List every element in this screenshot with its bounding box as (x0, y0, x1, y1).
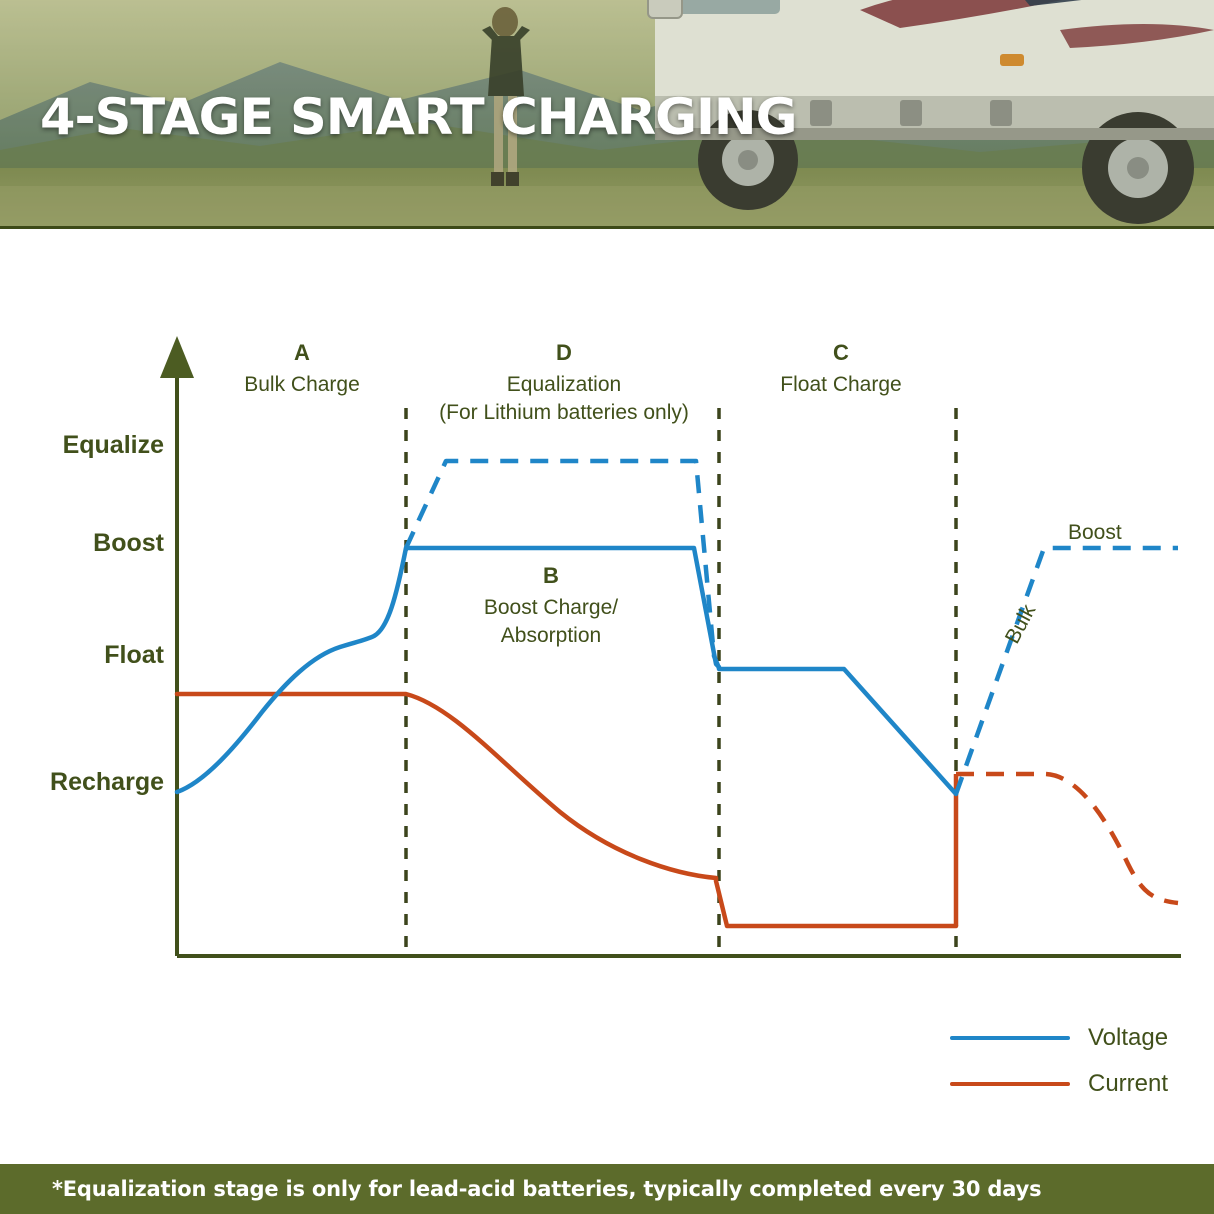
y-tick-label-equalize: Equalize (24, 431, 164, 460)
legend-item-voltage: Voltage (950, 1024, 1168, 1052)
annotation-boost: Boost (1068, 521, 1122, 545)
legend-label-current: Current (1088, 1070, 1168, 1098)
y-axis-arrow (160, 336, 194, 378)
y-tick-label-boost: Boost (24, 529, 164, 558)
current-curve-dashed (956, 774, 1178, 903)
y-tick-label-float: Float (24, 641, 164, 670)
stage-name-b: Boost Charge/ (484, 594, 618, 621)
legend-swatch-current (950, 1082, 1070, 1086)
current-curve-solid (177, 694, 956, 926)
footer-note-bar: *Equalization stage is only for lead-aci… (0, 1164, 1214, 1214)
stage-name-d: Equalization (507, 371, 621, 398)
stage-sub-b: Absorption (501, 622, 601, 649)
voltage-curve-solid (177, 548, 956, 794)
y-tick-label-recharge: Recharge (10, 768, 164, 797)
stage-letter-c: C (833, 340, 849, 366)
voltage-restart-dashed (956, 548, 1178, 794)
hero-banner: 4-STAGE SMART CHARGING (0, 0, 1214, 229)
stage-letter-a: A (294, 340, 310, 366)
legend-label-voltage: Voltage (1088, 1024, 1168, 1052)
stage-letter-b: B (543, 563, 559, 589)
chart-legend: Voltage Current (950, 1008, 1200, 1108)
stage-name-a: Bulk Charge (244, 371, 360, 398)
stage-letter-d: D (556, 340, 572, 366)
page-title: 4-STAGE SMART CHARGING (40, 88, 796, 146)
legend-item-current: Current (950, 1070, 1168, 1098)
stage-name-c: Float Charge (780, 371, 901, 398)
legend-swatch-voltage (950, 1036, 1070, 1040)
footer-note-text: *Equalization stage is only for lead-aci… (0, 1177, 1041, 1201)
stage-sub-d: (For Lithium batteries only) (439, 399, 689, 426)
